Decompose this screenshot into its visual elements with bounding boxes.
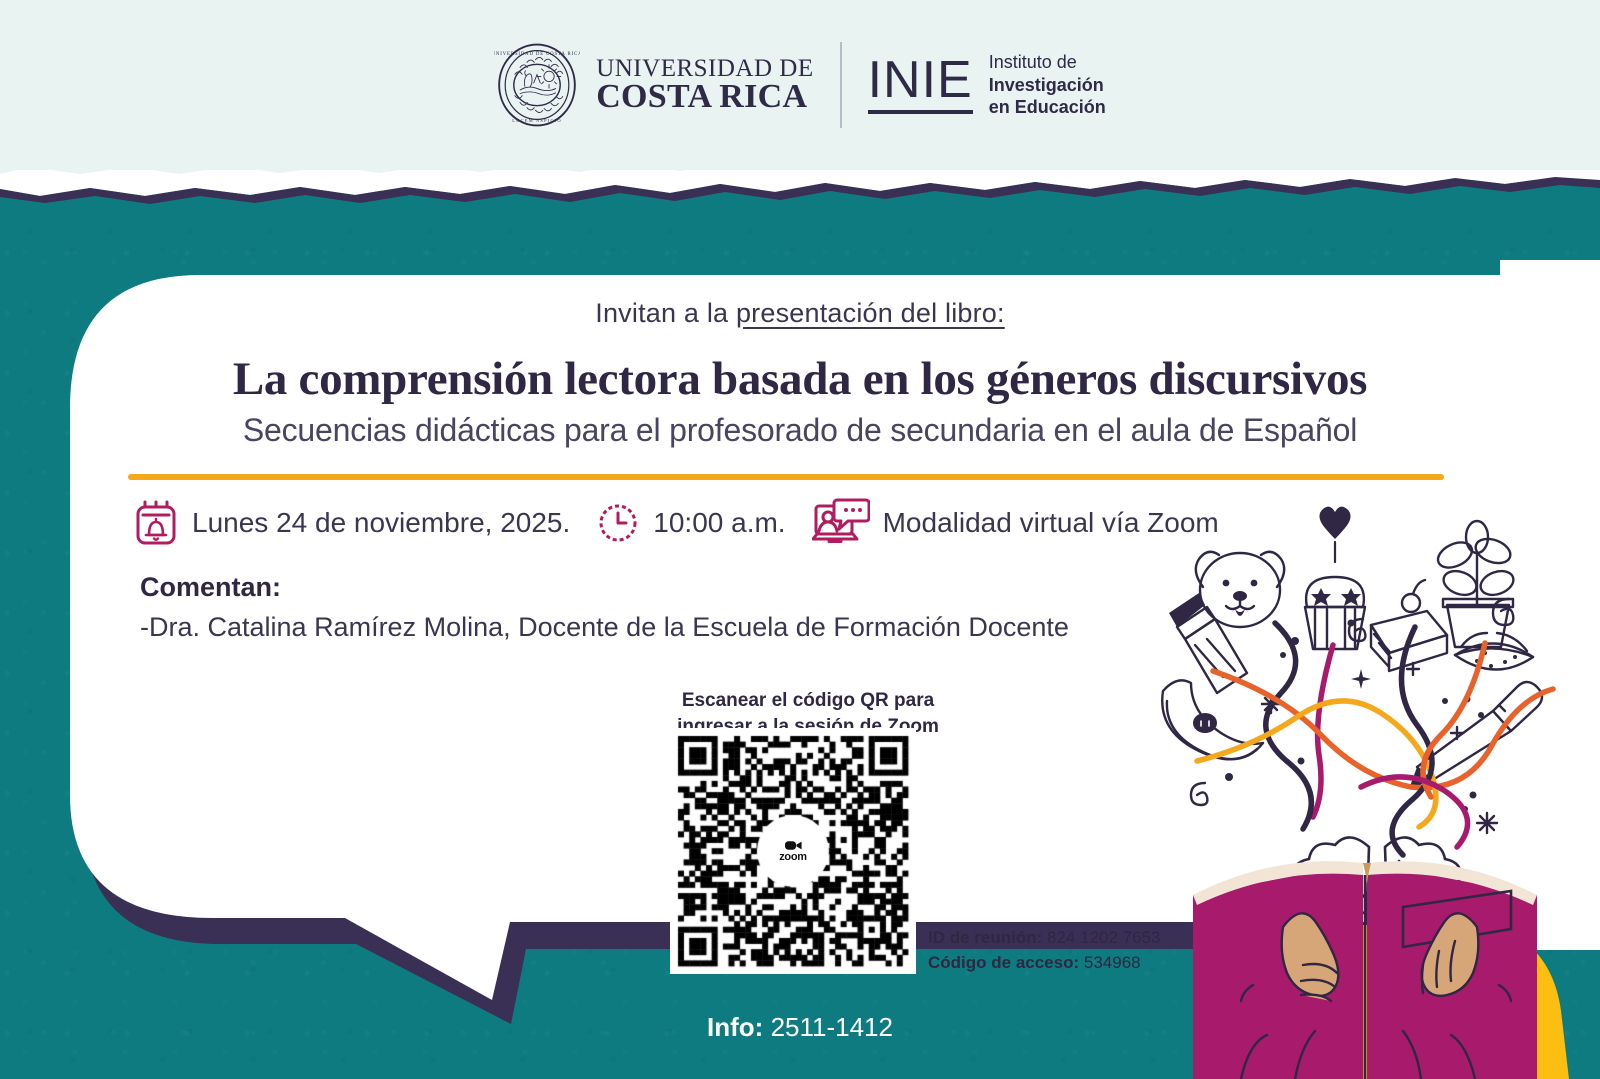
page-title: La comprensión lectora basada en los gén…	[120, 352, 1480, 406]
logo-lockup-group: UNIVERSIDAD DE COSTA RICA LUCEM ASPICIO …	[494, 42, 1106, 128]
inie-underline	[868, 110, 973, 114]
passcode-value: 534968	[1084, 953, 1141, 972]
comentan-label: Comentan:	[140, 572, 281, 603]
zoom-credentials: ID de reunión: 824 1202 7653 Código de a…	[928, 926, 1160, 975]
passcode-label: Código de acceso:	[928, 953, 1079, 972]
invite-prefix: Invitan a la	[595, 298, 736, 328]
cake-slice-icon	[1371, 580, 1447, 671]
poster-canvas: UNIVERSIDAD DE COSTA RICA LUCEM ASPICIO …	[0, 0, 1600, 1079]
ucr-logo: UNIVERSIDAD DE COSTA RICA LUCEM ASPICIO …	[494, 42, 813, 128]
inie-sub-1: Instituto de	[989, 51, 1106, 74]
zoom-logo-badge: zoom	[770, 828, 816, 874]
gold-divider	[128, 474, 1444, 480]
meta-date-text: Lunes 24 de noviembre, 2025.	[192, 507, 570, 539]
ucr-seal-icon: UNIVERSIDAD DE COSTA RICA LUCEM ASPICIO	[494, 42, 580, 128]
inie-logo: INIE Instituto de Investigación en Educa…	[868, 51, 1106, 119]
logo-divider	[840, 42, 842, 128]
header-band: UNIVERSIDAD DE COSTA RICA LUCEM ASPICIO …	[0, 0, 1600, 170]
meeting-id-row: ID de reunión: 824 1202 7653	[928, 926, 1160, 951]
info-label: Info:	[707, 1012, 763, 1042]
svg-text:LUCEM ASPICIO: LUCEM ASPICIO	[512, 118, 562, 123]
potted-plant-icon	[1434, 521, 1517, 647]
dog-icon	[1196, 552, 1284, 627]
invite-underlined: presentación del libro:	[736, 298, 1005, 328]
invite-line: Invitan a la presentación del libro:	[0, 298, 1600, 329]
zoom-camera-icon	[785, 840, 802, 851]
inie-sub-2: Investigación	[989, 74, 1106, 97]
info-line: Info: 2511-1412	[0, 1012, 1600, 1043]
laptop-webinar-icon	[812, 498, 870, 548]
cupcake-icon	[1305, 507, 1365, 649]
ucr-wordmark: UNIVERSIDAD DE COSTA RICA	[596, 57, 813, 114]
inie-subtitle: Instituto de Investigación en Educación	[989, 51, 1106, 119]
meta-time: 10:00 a.m.	[596, 501, 785, 545]
taco-icon	[1455, 633, 1533, 670]
ucr-line2: COSTA RICA	[596, 81, 813, 114]
zoom-badge-label: zoom	[779, 852, 807, 863]
open-book-icon	[1193, 861, 1537, 1079]
page-subtitle: Secuencias didácticas para el profesorad…	[120, 412, 1480, 449]
meeting-id-label: ID de reunión:	[928, 928, 1042, 947]
passcode-row: Código de acceso: 534968	[928, 951, 1160, 976]
calendar-bell-icon	[133, 499, 179, 547]
qr-caption-line1: Escanear el código QR para	[598, 688, 1018, 714]
inie-acronym: INIE	[868, 56, 973, 105]
info-value: 2511-1412	[771, 1012, 893, 1042]
clock-icon	[596, 501, 640, 545]
event-meta-row: Lunes 24 de noviembre, 2025. 10:00 a.m.	[133, 498, 1219, 548]
meta-time-text: 10:00 a.m.	[653, 507, 785, 539]
meeting-id-value: 824 1202 7653	[1047, 928, 1160, 947]
inie-sub-3: en Educación	[989, 96, 1106, 119]
banana-icon	[1162, 680, 1263, 759]
comentan-person: -Dra. Catalina Ramírez Molina, Docente d…	[140, 612, 1069, 643]
svg-text:UNIVERSIDAD DE COSTA RICA: UNIVERSIDAD DE COSTA RICA	[494, 52, 580, 57]
book-reader-doodles-illustration	[1155, 495, 1600, 1079]
meta-date: Lunes 24 de noviembre, 2025.	[133, 499, 570, 547]
inie-wordmark: INIE	[868, 56, 973, 114]
